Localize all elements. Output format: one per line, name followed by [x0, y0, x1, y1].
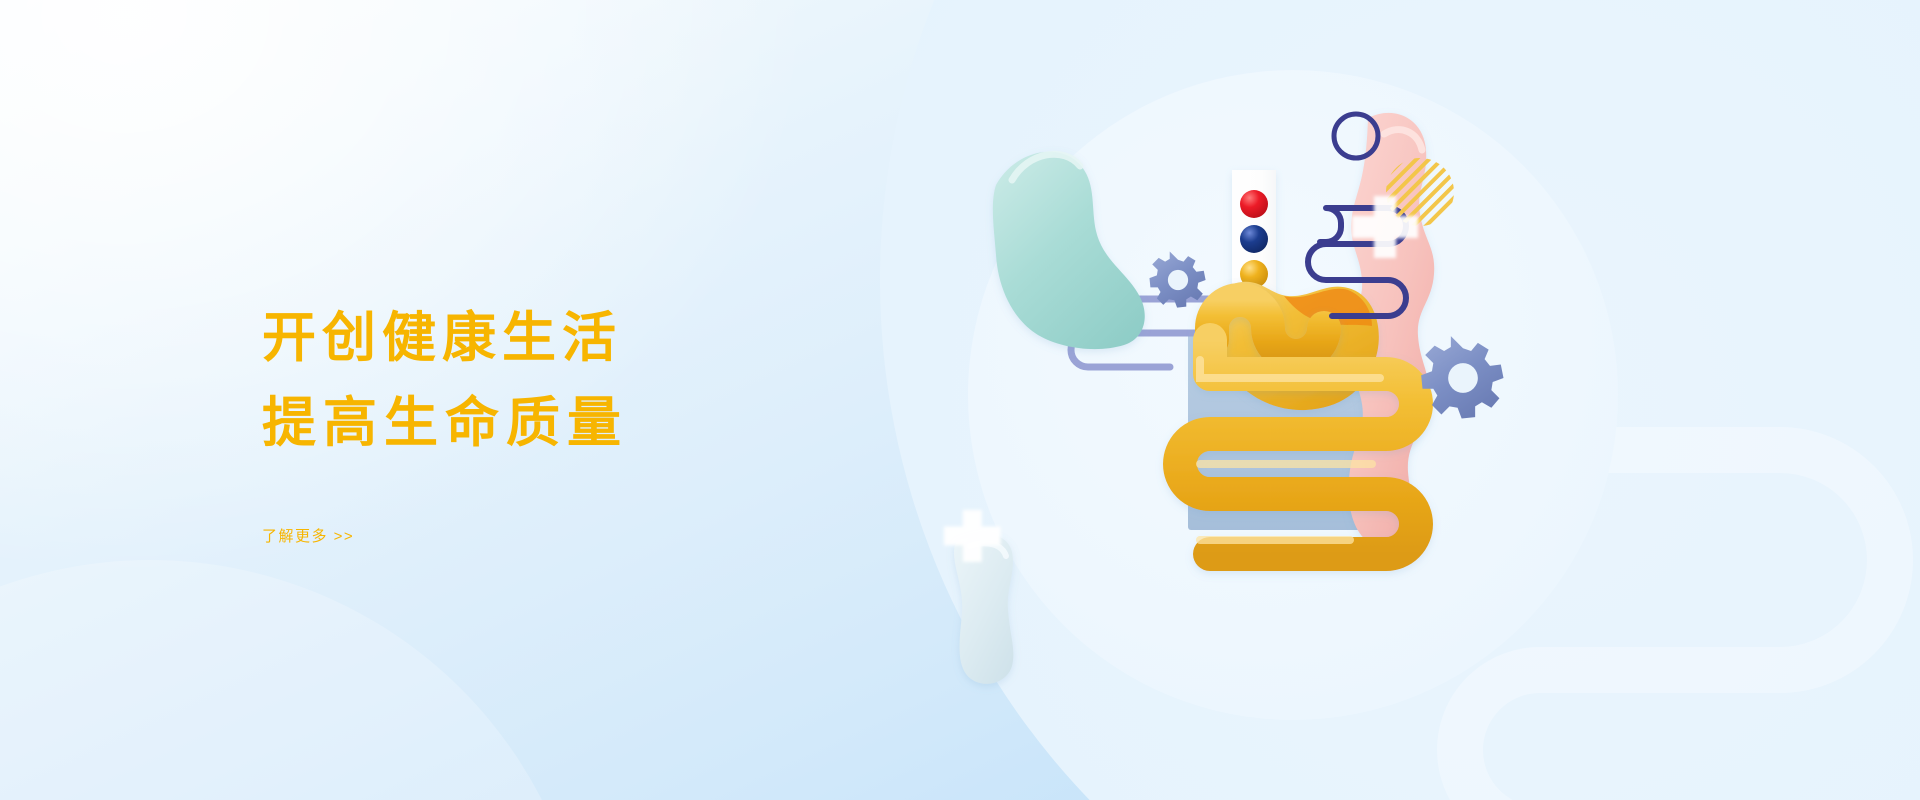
hero-banner: 开创健康生活 提高生命质量 了解更多 >> — [0, 0, 1920, 800]
red-pill-dot — [1240, 190, 1268, 218]
hero-copy: 开创健康生活 提高生命质量 了解更多 >> — [262, 296, 882, 546]
gear-icon-large — [1421, 336, 1503, 418]
navy-pill-dot — [1240, 225, 1268, 253]
background-circle-bottom-left — [0, 560, 590, 800]
liver-shape — [993, 152, 1145, 349]
digestive-system-illustration — [960, 40, 1720, 760]
headline-line-1: 开创健康生活 — [262, 296, 882, 381]
learn-more-link[interactable]: 了解更多 >> — [262, 525, 354, 546]
hatched-circle-icon — [1386, 158, 1454, 226]
gear-icon-small — [1149, 251, 1205, 307]
illustration-stage — [960, 40, 1720, 760]
headline-line-2: 提高生命质量 — [262, 381, 882, 466]
